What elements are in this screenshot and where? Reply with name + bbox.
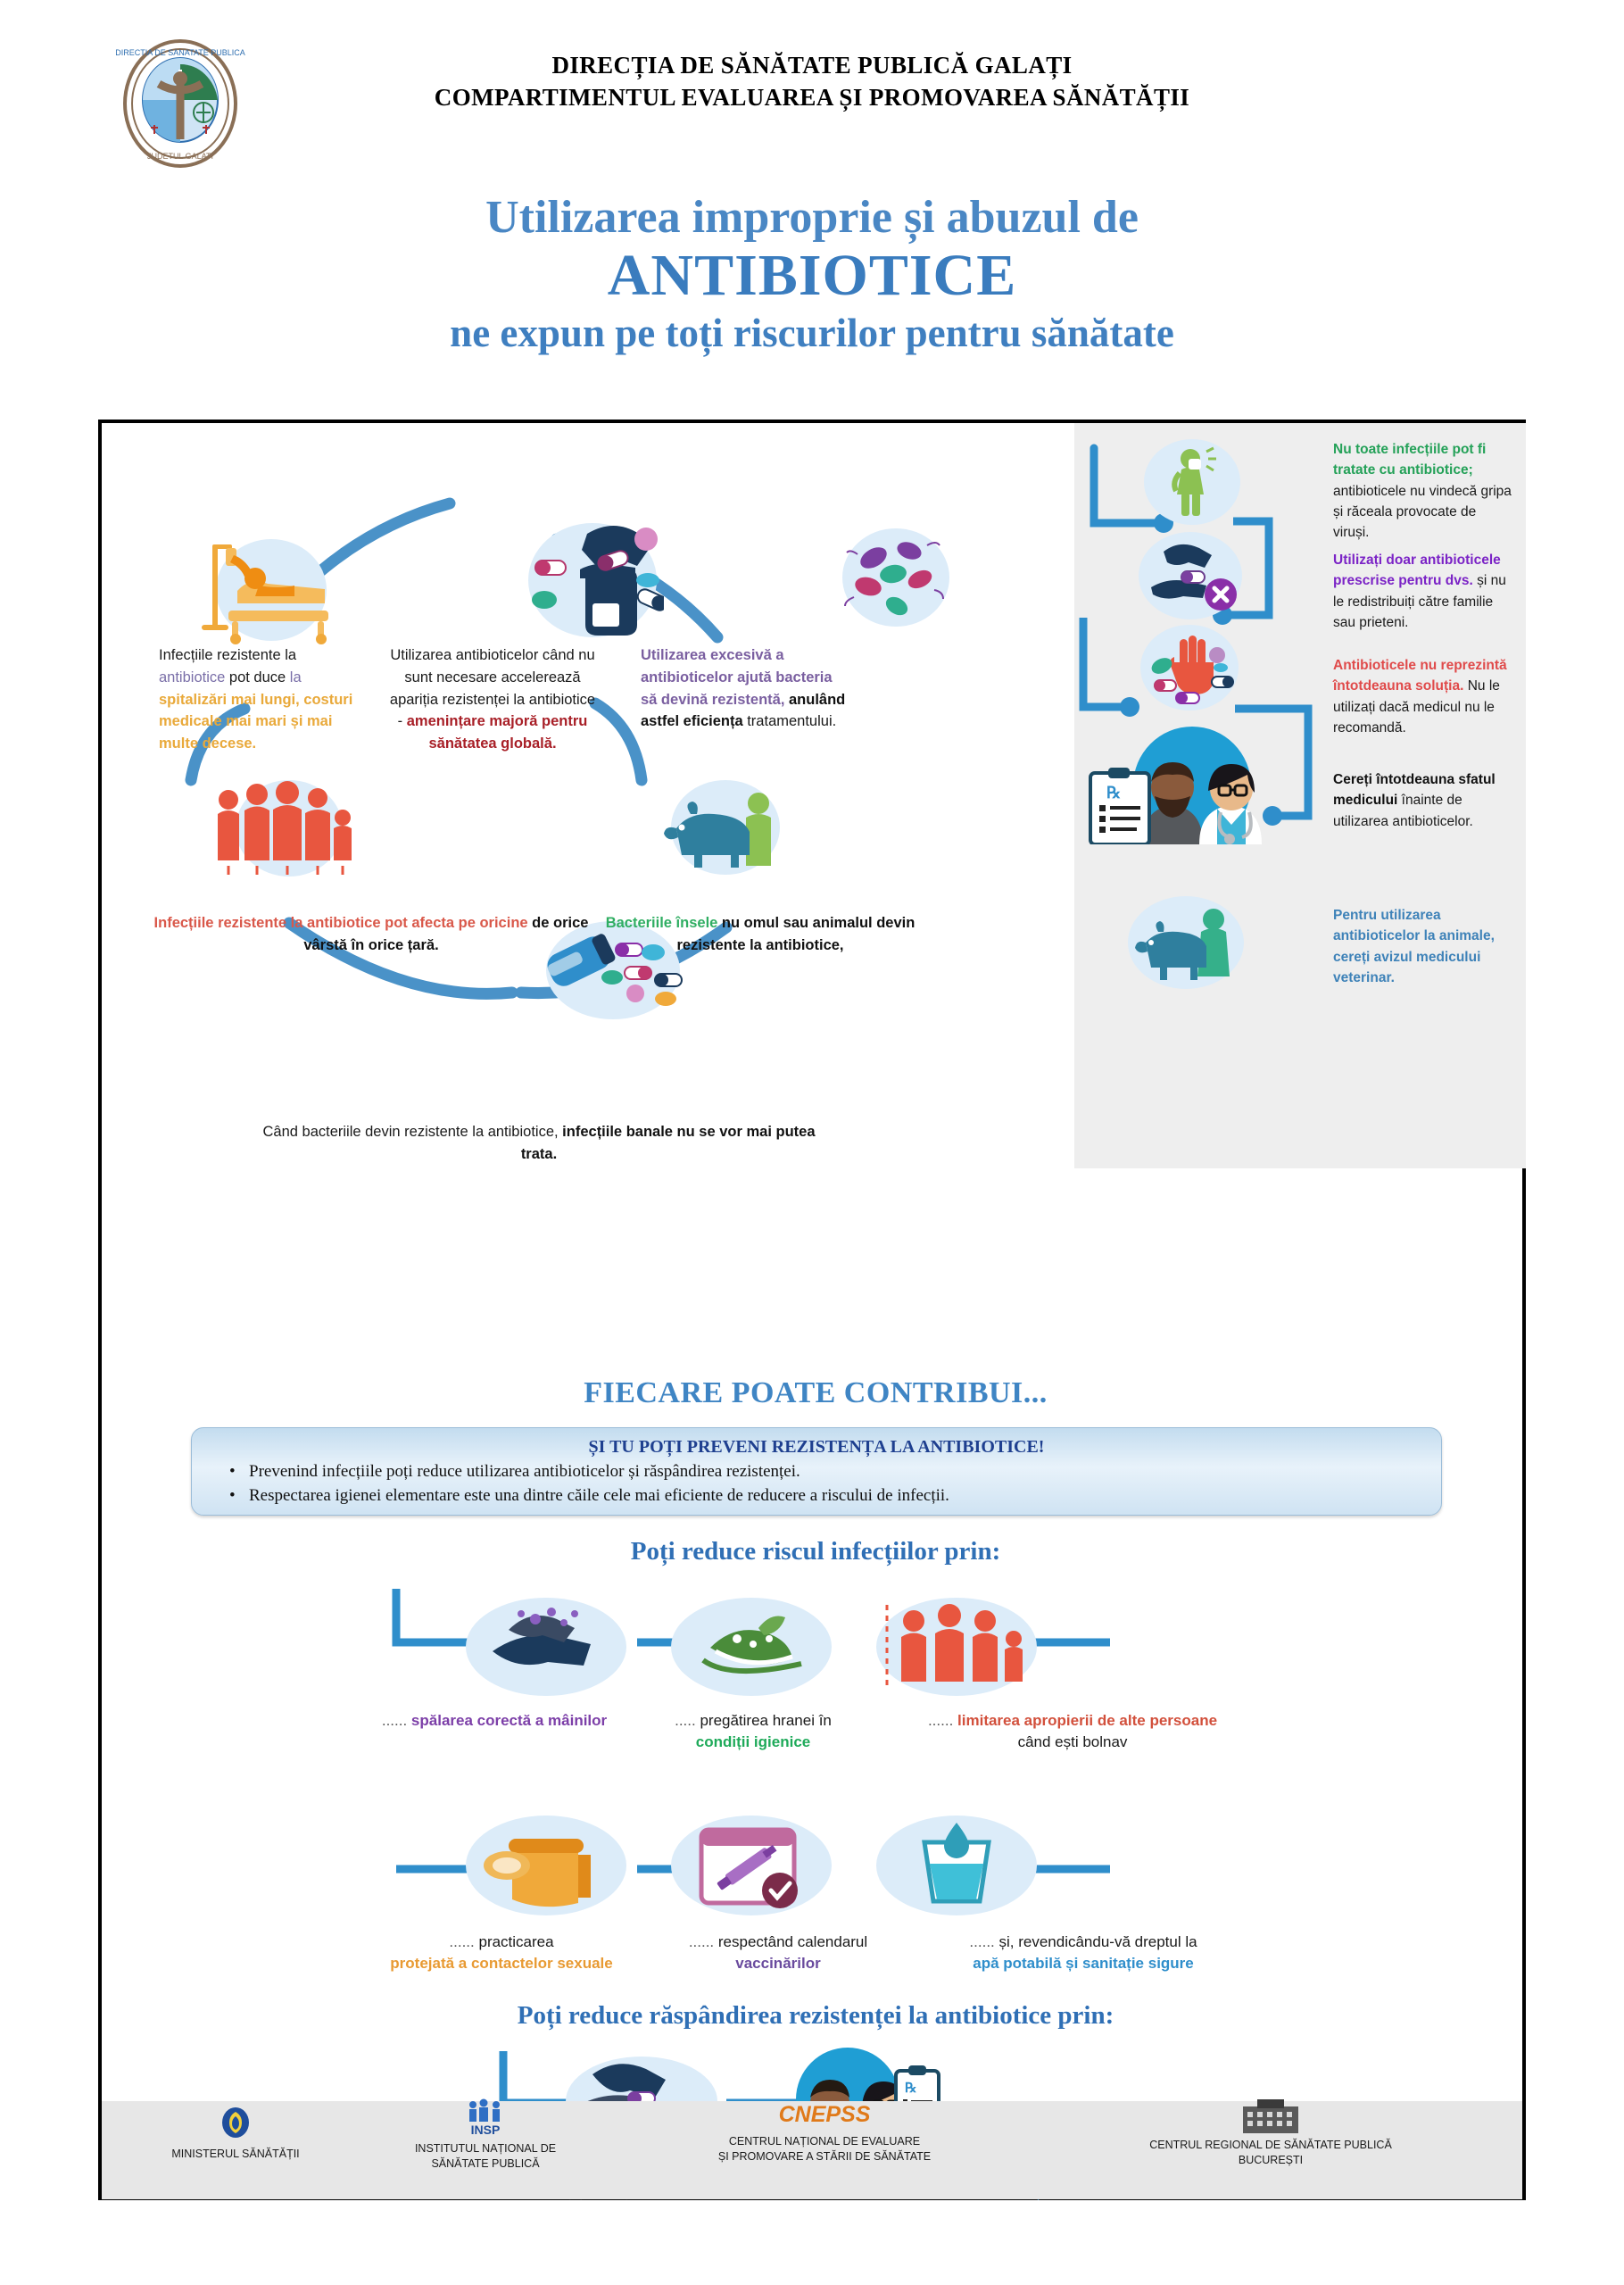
- lt1-p0: Infecțiile rezistente la: [159, 647, 296, 663]
- left-text-pillbottle: Utilizarea antibioticelor când nu sunt n…: [385, 644, 600, 755]
- lt4-p0: Infecțiile rezistente la antibiotice pot…: [154, 915, 528, 931]
- risk-dots-1: ......: [382, 1712, 407, 1729]
- poster-footer: MINISTERUL SĂNĂTĂȚII INSP INSTITUTUL NAȚ…: [102, 2101, 1522, 2199]
- risk-line2-6: apă potabilă și sanitație sigure: [973, 1955, 1194, 1972]
- callout-bullet-1: •Prevenind infecțiile poți reduce utiliz…: [229, 1462, 1441, 1482]
- doctor-patient-icon: ℞: [1087, 723, 1271, 844]
- risk-caption-2: ..... pregătirea hranei în condiții igie…: [637, 1710, 869, 1753]
- risk-dots-5: ......: [689, 1933, 714, 1950]
- footer-logo-4-line-2: BUCUREȘTI: [1048, 2153, 1494, 2168]
- family-group-icon: [236, 780, 343, 877]
- hand-sharing-pill-icon: [1139, 532, 1242, 619]
- distance-people-icon: [876, 1598, 1037, 1696]
- cow-farmer-icon: [671, 780, 780, 875]
- organization-title: DIRECȚIA DE SĂNĂTATE PUBLICĂ GALAȚI COMP…: [294, 49, 1330, 114]
- footer-logo-3-line-1: CENTRUL NAȚIONAL DE EVALUARE: [637, 2134, 1012, 2149]
- title-line-3: ne expun pe toți riscurilor pentru sănăt…: [0, 309, 1624, 357]
- risk-line2-5: vaccinărilor: [735, 1955, 820, 1972]
- lt2-p1: amenințare majoră pentru sănătatea globa…: [407, 713, 588, 752]
- handwashing-icon: [466, 1598, 626, 1696]
- food-hygiene-icon: [671, 1598, 832, 1696]
- risk-section-heading: Poți reduce riscul infecțiilor prin:: [102, 1537, 1529, 1566]
- crsp-building-icon: [1239, 2096, 1302, 2133]
- risk-dots-6: ......: [969, 1933, 994, 1950]
- vet-cow-icon: [1128, 896, 1244, 989]
- title-line-1: Utilizarea improprie și abuzul de: [0, 192, 1624, 244]
- poster-title: Utilizarea improprie și abuzul de ANTIBI…: [0, 192, 1624, 357]
- lt1-p2: pot duce: [225, 669, 289, 685]
- advice-text-2: Utilizați doar antibioticele prescrise p…: [1333, 550, 1512, 633]
- risk-line1-6: și, revendicându-vă dreptul la: [999, 1933, 1197, 1950]
- risk-line1-3: limitarea apropierii de alte persoane: [957, 1712, 1217, 1729]
- svg-text:JUDETUL GALATI: JUDETUL GALATI: [147, 152, 213, 161]
- risk-dots-2: .....: [675, 1712, 696, 1729]
- poster-header: DIRECTIA DE SANATATE PUBLICA JUDETUL GAL…: [0, 0, 1624, 170]
- footer-logo-1: MINISTERUL SĂNĂTĂȚII: [120, 2106, 352, 2162]
- left-text-people: Infecțiile rezistente la antibiotice pot…: [148, 912, 594, 957]
- svg-text:℞: ℞: [905, 2081, 916, 2096]
- advice-strong-1: Nu toate infecțiile pot fi tratate cu an…: [1333, 442, 1486, 478]
- stop-hand-pills-icon: [1140, 625, 1239, 710]
- risk-dots-4: ......: [449, 1933, 474, 1950]
- svg-text:CNEPSS: CNEPSS: [779, 2102, 871, 2127]
- advice-text-1: Nu toate infecțiile pot fi tratate cu an…: [1333, 439, 1512, 543]
- footer-logo-2-line-1: INSTITUTUL NAȚIONAL DE: [343, 2141, 628, 2156]
- risk-line2-2: condiții igienice: [696, 1733, 810, 1750]
- poster-main-frame: ℞ Nu toate infecți: [98, 420, 1526, 2200]
- callout-title: ȘI TU POȚI PREVENI REZISTENȚA LA ANTIBIO…: [192, 1428, 1441, 1458]
- prevention-callout-box: ȘI TU POȚI PREVENI REZISTENȚA LA ANTIBIO…: [191, 1427, 1442, 1516]
- advice-text-3: Antibioticele nu reprezintă întotdeauna …: [1333, 655, 1512, 738]
- footer-logo-2: INSP INSTITUTUL NAȚIONAL DE SĂNĂTATE PUB…: [343, 2098, 628, 2172]
- lt1-p4: spitalizări mai lungi, costuri medicale …: [159, 692, 352, 752]
- hand-pill-bottle-icon: [528, 523, 657, 637]
- clean-water-icon: [876, 1816, 1037, 1915]
- contribute-heading: FIECARE POATE CONTRIBUI...: [102, 1376, 1529, 1410]
- risk-caption-3: ...... limitarea apropierii de alte pers…: [858, 1710, 1287, 1753]
- condom-icon: [466, 1816, 626, 1915]
- org-line-1: DIRECȚIA DE SĂNĂTATE PUBLICĂ GALAȚI: [294, 49, 1330, 81]
- left-text-spilled: Când bacteriile devin rezistente la anti…: [262, 1121, 816, 1166]
- hospital-bed-icon: [216, 539, 327, 641]
- dsp-galati-seal-icon: DIRECTIA DE SANATATE PUBLICA JUDETUL GAL…: [105, 37, 255, 170]
- footer-logo-3: CNEPSS CENTRUL NAȚIONAL DE EVALUARE ȘI P…: [637, 2099, 1012, 2165]
- lt3-p2: tratamentului.: [743, 713, 837, 729]
- risk-line2-4: protejată a contactelor sexuale: [390, 1955, 612, 1972]
- risk-caption-6: ...... și, revendicându-vă dreptul la ap…: [896, 1932, 1271, 1974]
- risk-dots-3: ......: [928, 1712, 953, 1729]
- footer-logo-4: CENTRUL REGIONAL DE SĂNĂTATE PUBLICĂ BUC…: [1048, 2096, 1494, 2168]
- svg-text:INSP: INSP: [471, 2123, 501, 2137]
- svg-text:℞: ℞: [1106, 784, 1121, 802]
- bacteria-icon: [842, 528, 949, 627]
- risk-caption-4: ...... practicarea protejată a contactel…: [314, 1932, 689, 1974]
- cnepss-icon: CNEPSS: [766, 2099, 882, 2130]
- risk-caption-5: ...... respectând calendarul vaccinărilo…: [635, 1932, 921, 1974]
- sick-person-icon: [1144, 439, 1240, 525]
- risk-line2-3: când ești bolnav: [1018, 1733, 1128, 1750]
- spread-section-heading: Poți reduce răspândirea rezistenței la a…: [102, 2001, 1529, 2031]
- left-text-hospital: Infecțiile rezistente la antibiotice pot…: [159, 644, 364, 755]
- advice-text-5: Pentru utilizarea antibioticelor la anim…: [1333, 905, 1512, 988]
- lt1-p1: antibiotice: [159, 669, 225, 685]
- title-line-2: ANTIBIOTICE: [0, 244, 1624, 309]
- footer-logo-4-line-1: CENTRUL REGIONAL DE SĂNĂTATE PUBLICĂ: [1048, 2138, 1494, 2153]
- left-text-animals: Bacteriile însele nu omul sau animalul d…: [591, 912, 930, 957]
- left-text-bacteria: Utilizarea excesivă a antibioticelor aju…: [641, 644, 846, 733]
- svg-text:DIRECTIA DE SANATATE PUBLICA: DIRECTIA DE SANATATE PUBLICA: [115, 48, 245, 57]
- lt6-p1: infecțiile banale nu se vor mai putea tr…: [521, 1124, 816, 1162]
- org-line-2: COMPARTIMENTUL EVALUAREA ȘI PROMOVAREA S…: [294, 81, 1330, 113]
- callout-bullet-1-text: Prevenind infecțiile poți reduce utiliza…: [249, 1462, 800, 1481]
- lt1-p3: la: [290, 669, 302, 685]
- footer-logo-1-line-1: MINISTERUL SĂNĂTĂȚII: [120, 2147, 352, 2162]
- risk-line1-4: practicarea: [478, 1933, 553, 1950]
- romania-coat-of-arms-icon: [218, 2106, 253, 2142]
- footer-logo-2-line-2: SĂNĂTATE PUBLICĂ: [343, 2156, 628, 2172]
- risk-line1-1: spălarea corectă a mâinilor: [411, 1712, 607, 1729]
- risk-line1-2: pregătirea hranei în: [700, 1712, 831, 1729]
- insp-icon: INSP: [460, 2098, 510, 2137]
- vaccine-calendar-icon: [671, 1816, 832, 1915]
- callout-bullet-2-text: Respectarea igienei elementare este una …: [249, 1486, 949, 1505]
- advice-strong-5: Pentru utilizarea antibioticelor la anim…: [1333, 908, 1495, 985]
- footer-logo-3-line-2: ȘI PROMOVARE A STĂRII DE SĂNĂTATE: [637, 2149, 1012, 2165]
- risk-line1-5: respectând calendarul: [718, 1933, 867, 1950]
- lt6-p0: Când bacteriile devin rezistente la anti…: [262, 1124, 558, 1140]
- lt5-p0: Bacteriile însele: [606, 915, 718, 931]
- risk-caption-1: ...... spălarea corectă a mâinilor: [307, 1710, 682, 1732]
- advice-panel: ℞ Nu toate infecți: [1074, 423, 1526, 1168]
- callout-bullet-2: •Respectarea igienei elementare este una…: [229, 1486, 1441, 1506]
- advice-rest-1: antibioticele nu vindecă gripa și răceal…: [1333, 484, 1512, 541]
- advice-text-4: Cereți întotdeauna sfatul medicului înai…: [1333, 769, 1512, 832]
